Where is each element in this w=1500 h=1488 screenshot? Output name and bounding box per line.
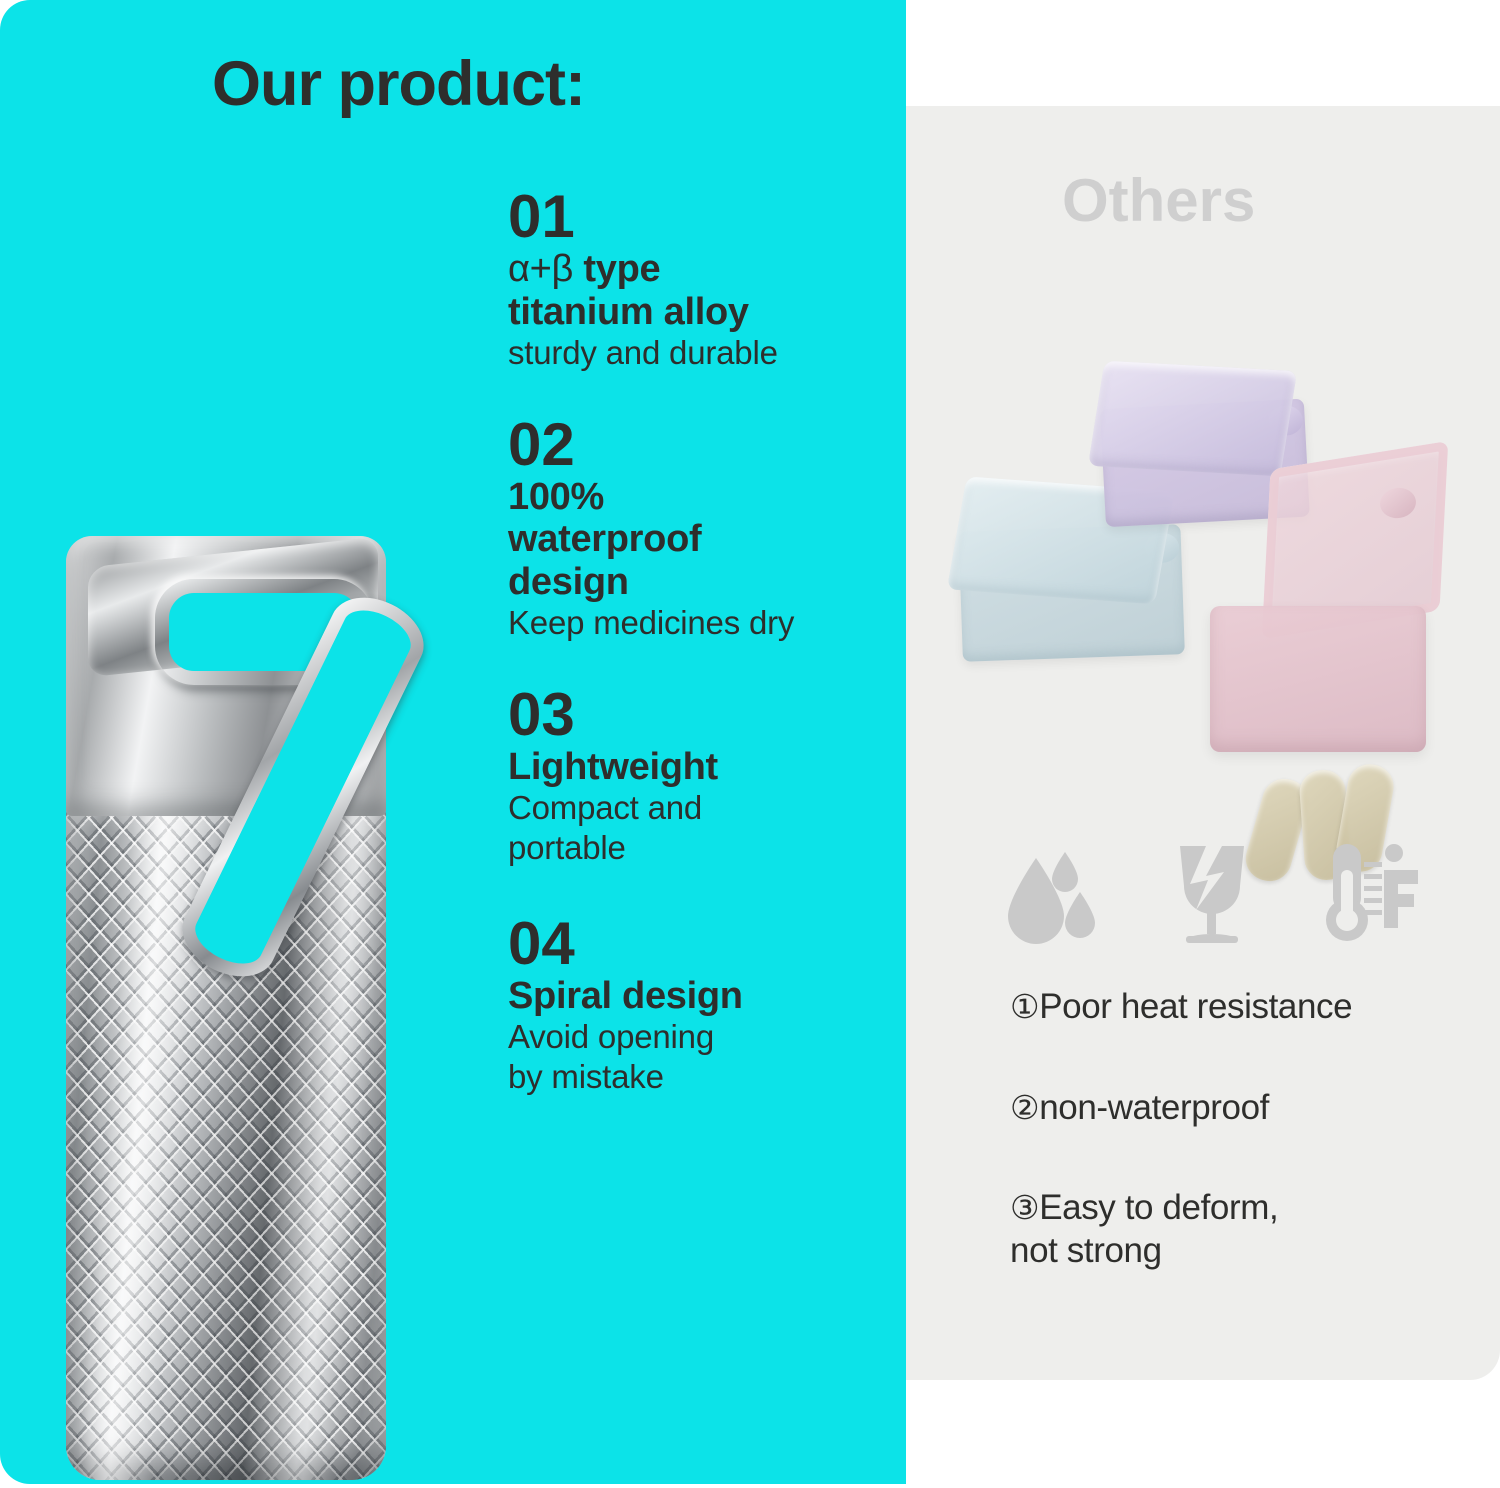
list-marker: ③ [1010, 1189, 1039, 1226]
drawback-text-line1: Easy to deform, [1039, 1188, 1278, 1227]
feature-title: 100% waterproof design [508, 476, 888, 604]
feature-title-line3: design [508, 561, 629, 603]
list-marker: ① [1010, 988, 1039, 1025]
feature-subtitle-line1: Compact and [508, 789, 702, 826]
feature-number: 01 [508, 185, 888, 248]
broken-glass-icon [1162, 840, 1262, 946]
feature-03: 03 Lightweight Compact and portable [508, 683, 888, 868]
drawback-item-2: ②non-waterproof [1010, 1087, 1480, 1130]
drawback-item-1: ①Poor heat resistance [1010, 986, 1480, 1029]
feature-title-line1: 100% [508, 476, 604, 518]
plastic-box-pink-open [1194, 456, 1454, 756]
list-marker: ② [1010, 1089, 1039, 1126]
feature-title-line2: titanium alloy [508, 291, 749, 333]
feature-title: α+β type titanium alloy [508, 248, 888, 333]
feature-title: Lightweight [508, 746, 888, 789]
feature-01: 01 α+β type titanium alloy sturdy and du… [508, 185, 888, 373]
feature-title: Spiral design [508, 975, 888, 1018]
drawback-text: Poor heat resistance [1039, 987, 1352, 1026]
feature-subtitle: Avoid opening by mistake [508, 1017, 888, 1096]
feature-list: 01 α+β type titanium alloy sturdy and du… [508, 185, 888, 1096]
feature-subtitle: Keep medicines dry [508, 603, 888, 643]
box-base [1210, 606, 1426, 752]
feature-04: 04 Spiral design Avoid opening by mistak… [508, 912, 888, 1097]
warning-icon-row [1002, 836, 1422, 946]
feature-number: 04 [508, 912, 888, 975]
feature-02: 02 100% waterproof design Keep medicines… [508, 413, 888, 643]
others-panel: Others [906, 106, 1500, 1380]
feature-subtitle-line2: by mistake [508, 1058, 664, 1095]
feature-number: 03 [508, 683, 888, 746]
our-product-panel: Our product: 01 α+β type titanium alloy … [0, 0, 906, 1484]
our-product-title: Our product: [212, 48, 585, 120]
feature-subtitle-line1: Avoid opening [508, 1018, 714, 1055]
titanium-pill-container-image [58, 528, 478, 1484]
water-drops-icon [1002, 840, 1102, 946]
plastic-pill-boxes-image [946, 356, 1466, 776]
feature-subtitle-line2: portable [508, 829, 626, 866]
drawback-text: non-waterproof [1039, 1088, 1269, 1127]
thermometer-fahrenheit-icon [1322, 840, 1422, 946]
drawback-text-line2: not strong [1010, 1231, 1162, 1270]
feature-title-rest: type [573, 248, 660, 290]
feature-subtitle: sturdy and durable [508, 333, 888, 373]
feature-subtitle: Compact and portable [508, 788, 888, 867]
feature-title-greek: α+β [508, 248, 573, 290]
feature-number: 02 [508, 413, 888, 476]
comparison-infographic: Our product: 01 α+β type titanium alloy … [0, 0, 1500, 1488]
drawback-item-3: ③Easy to deform, not strong [1010, 1187, 1480, 1272]
others-title: Others [1062, 166, 1255, 235]
drawbacks-list: ①Poor heat resistance ②non-waterproof ③E… [1010, 986, 1480, 1331]
feature-title-line2: waterproof [508, 518, 701, 560]
